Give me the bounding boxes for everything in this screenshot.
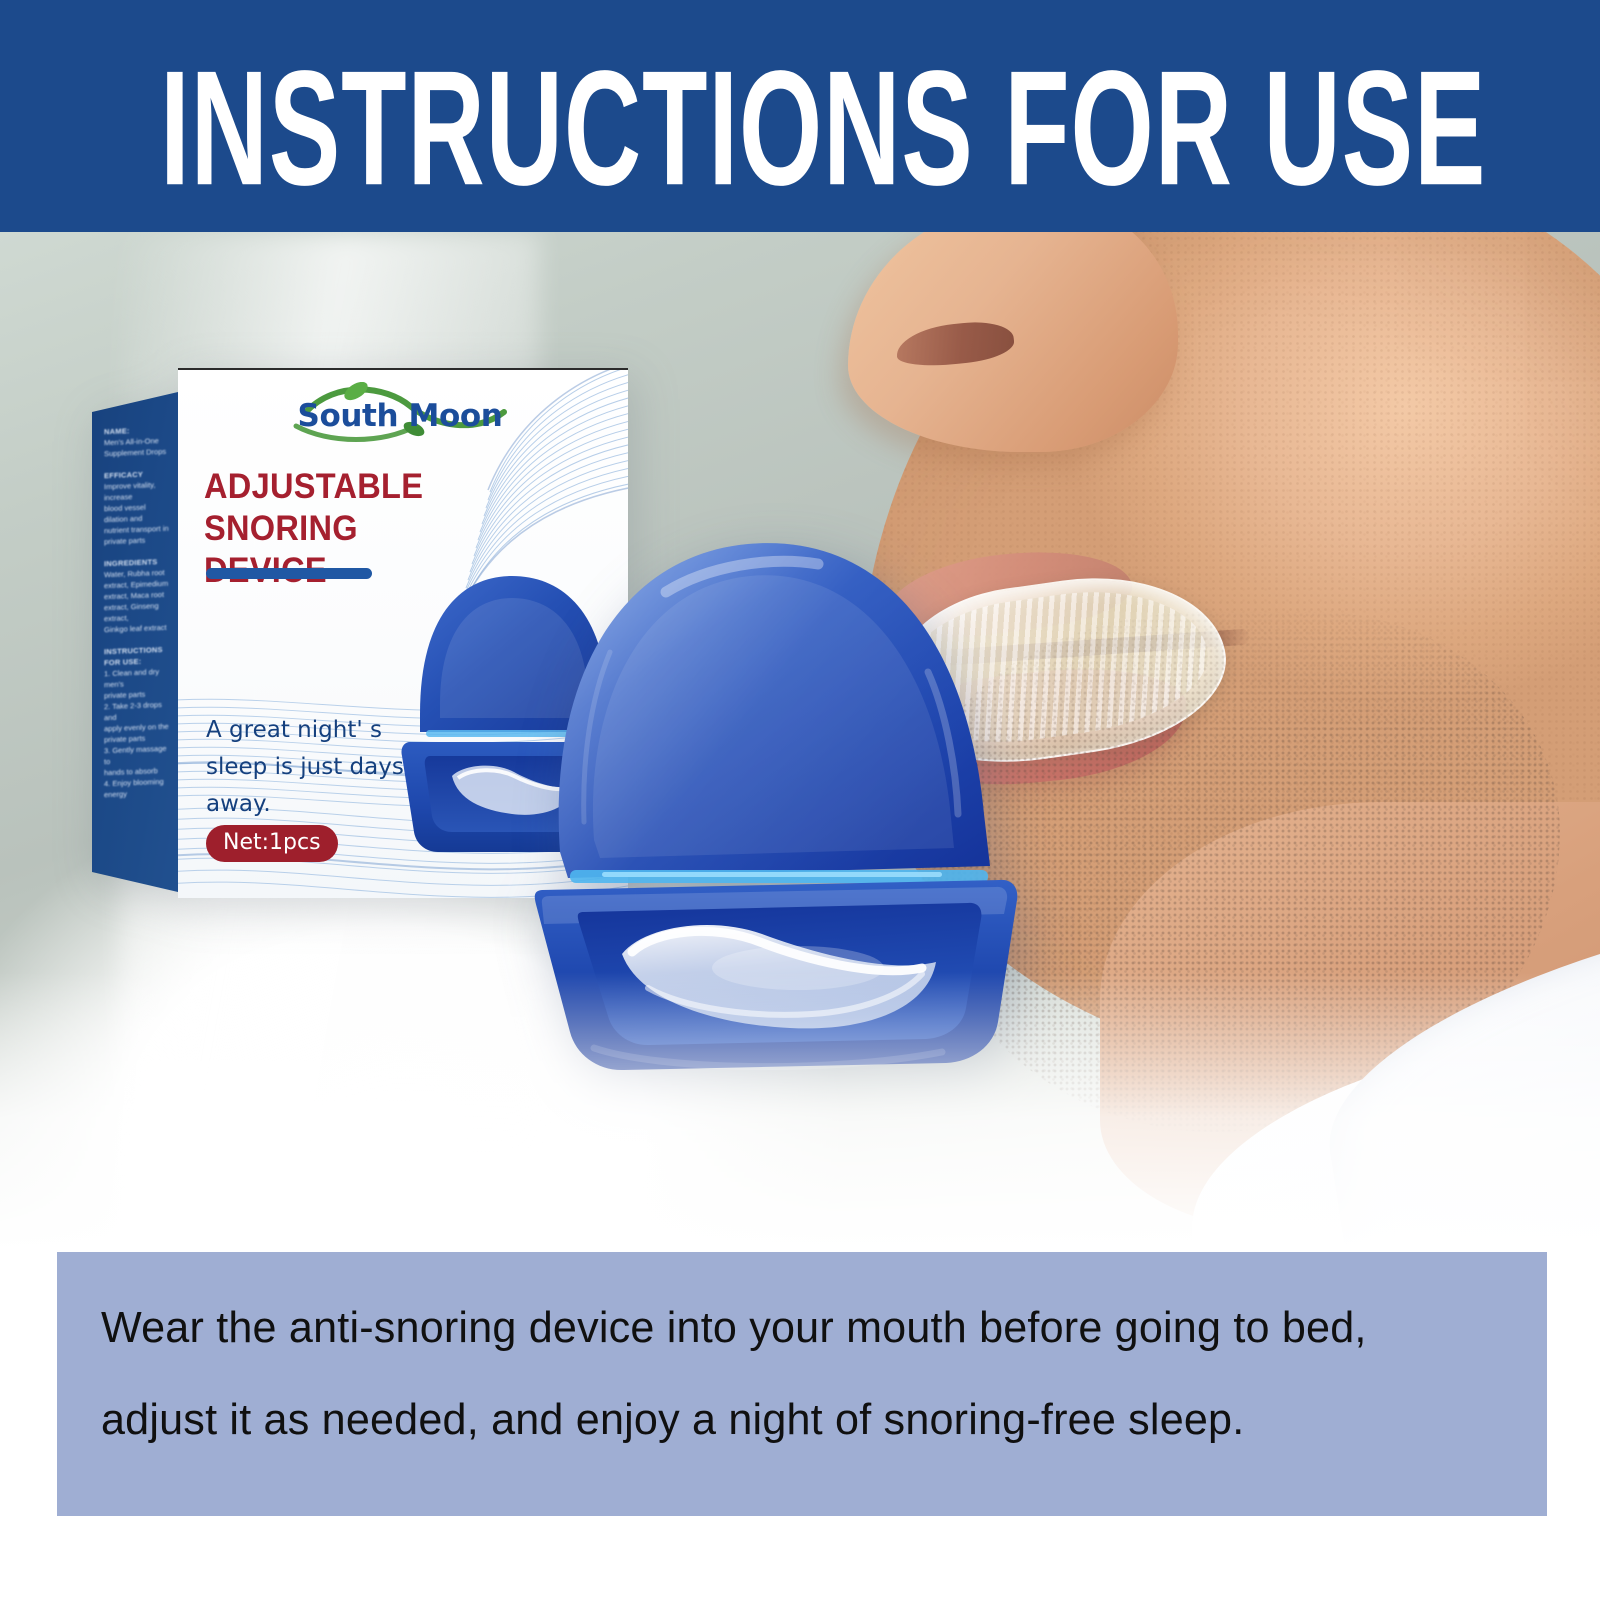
page-title: INSTRUCTIONS FOR USE bbox=[160, 44, 1440, 215]
caption-line-1: Wear the anti-snoring device into your m… bbox=[101, 1282, 1473, 1374]
caption-line-2: adjust it as needed, and enjoy a night o… bbox=[101, 1374, 1473, 1466]
side-line: extract, Ginseng extract, bbox=[104, 600, 170, 625]
brand-name: South Moon bbox=[290, 398, 510, 434]
side-heading-instructions: INSTRUCTIONS FOR USE: bbox=[104, 644, 170, 669]
header-banner: INSTRUCTIONS FOR USE bbox=[0, 0, 1600, 232]
box-title-underline bbox=[206, 568, 372, 579]
product-photo: NAME: Men's All-in-One Supplement Drops … bbox=[0, 232, 1600, 1252]
side-line: blood vessel dilation and bbox=[104, 501, 170, 526]
caption-panel: Wear the anti-snoring device into your m… bbox=[57, 1252, 1547, 1516]
brand-logo: South Moon bbox=[290, 382, 510, 444]
net-quantity-badge: Net:1pcs bbox=[206, 825, 338, 862]
side-line: Ginkgo leaf extract bbox=[104, 622, 170, 636]
side-line: Improve vitality, increase bbox=[104, 479, 170, 504]
side-line: private parts bbox=[104, 534, 170, 548]
side-line: Supplement Drops bbox=[104, 446, 170, 460]
caption-text: Wear the anti-snoring device into your m… bbox=[101, 1282, 1473, 1466]
photo-bottom-fade bbox=[0, 972, 1600, 1252]
case-lid bbox=[559, 543, 990, 878]
